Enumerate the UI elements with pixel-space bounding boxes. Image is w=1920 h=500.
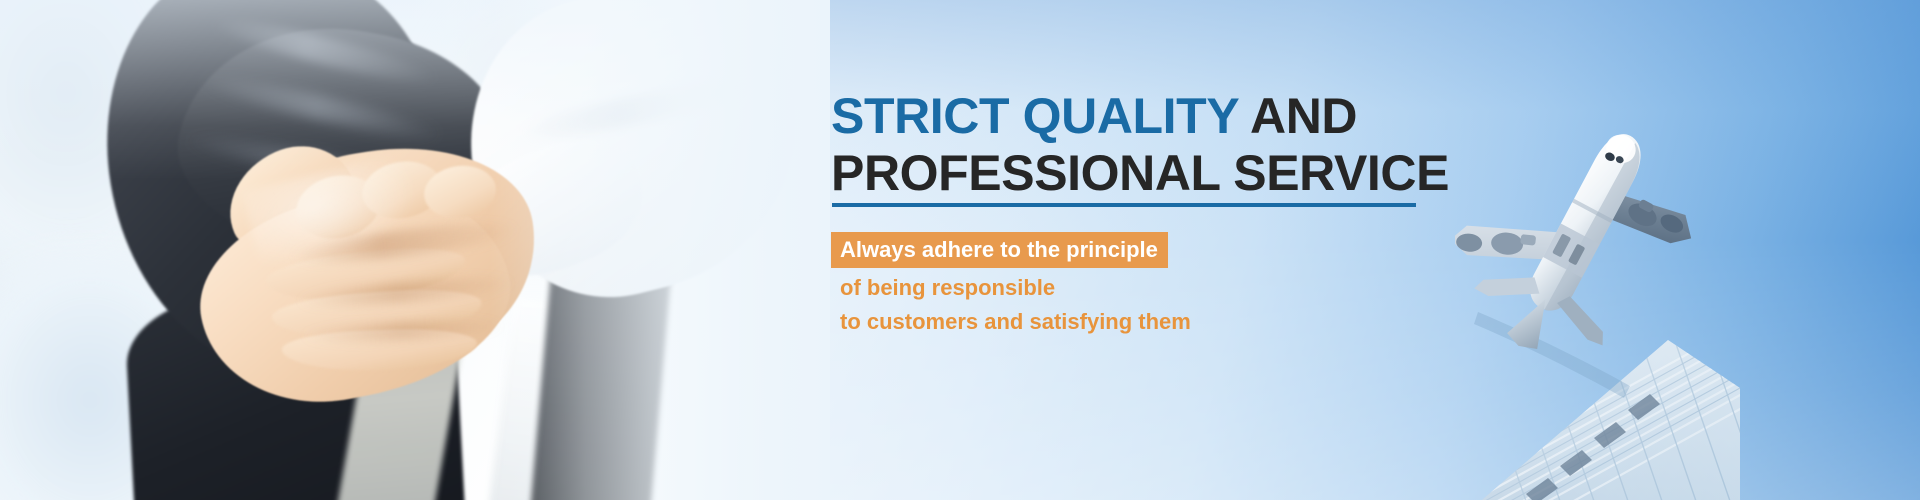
headline-line-1: STRICT QUALITY AND [831,88,1449,145]
headline-line-1-rest: AND [1238,88,1357,144]
subtitle-line-1-highlighted: Always adhere to the principle [831,232,1168,268]
subtitle-block: Always adhere to the principle of being … [831,232,1531,339]
title-divider [832,203,1416,207]
headline-emphasis: STRICT QUALITY [831,88,1238,144]
headline-line-2: PROFESSIONAL SERVICE [831,145,1449,202]
promotional-banner: STRICT QUALITY AND PROFESSIONAL SERVICE … [0,0,1920,500]
photo-right-edge-fade [490,0,830,500]
handshake-photo [0,0,830,500]
banner-text-content: STRICT QUALITY AND PROFESSIONAL SERVICE … [831,0,1531,500]
subtitle-line-3: to customers and satisfying them [831,305,1531,339]
subtitle-line-2: of being responsible [831,271,1531,305]
page-title: STRICT QUALITY AND PROFESSIONAL SERVICE [831,88,1449,202]
handshake-photo-canvas [0,0,830,500]
